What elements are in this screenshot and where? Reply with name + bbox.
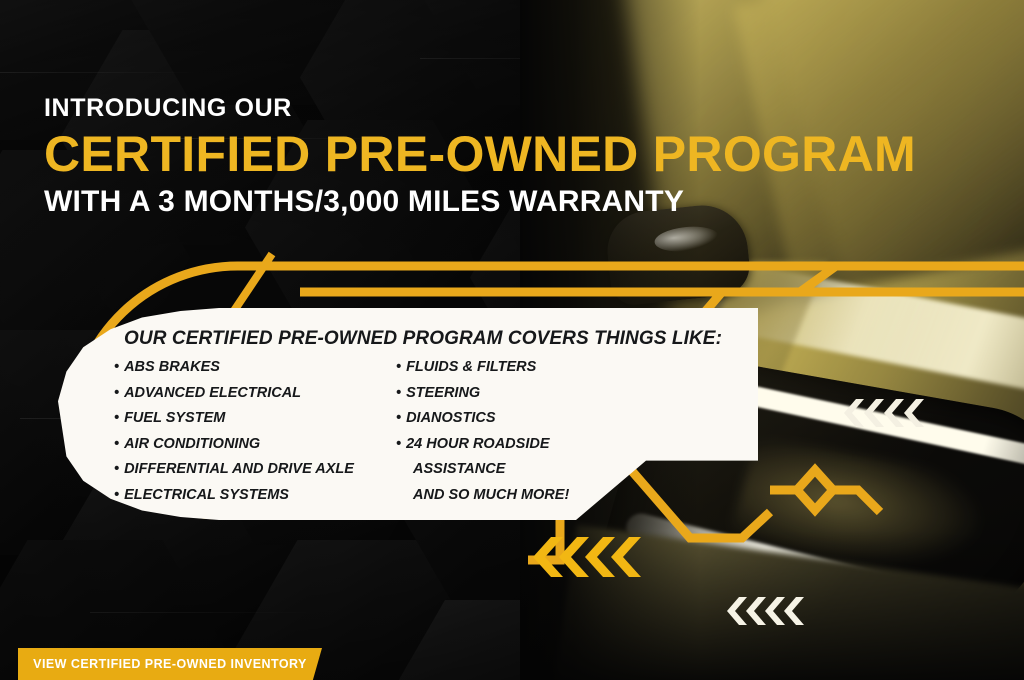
page-title: CERTIFIED PRE-OWNED PROGRAM [44, 127, 944, 181]
list-item: •STEERING [396, 386, 696, 401]
kicker-text: INTRODUCING OUR [44, 96, 944, 121]
list-item-label: ABS BRAKES [124, 359, 220, 375]
list-item: •FUEL SYSTEM [114, 411, 396, 426]
list-item-label: FUEL SYSTEM [124, 410, 225, 426]
chevron-left-icon [722, 596, 812, 626]
panel-heading: OUR CERTIFIED PRE-OWNED PROGRAM COVERS T… [124, 328, 722, 350]
warranty-subtitle: WITH A 3 MONTHS/3,000 MILES WARRANTY [44, 187, 944, 217]
certified-preowned-banner: INTRODUCING OUR CERTIFIED PRE-OWNED PROG… [0, 0, 1024, 680]
bullet-icon: • [114, 386, 119, 401]
bullet-icon: • [114, 437, 119, 452]
view-inventory-label: VIEW CERTIFIED PRE-OWNED INVENTORY [33, 657, 307, 671]
bullet-icon: • [396, 386, 401, 401]
list-item: •ELECTRICAL SYSTEMS [114, 488, 396, 503]
bullet-icon: • [396, 437, 401, 452]
view-inventory-button[interactable]: VIEW CERTIFIED PRE-OWNED INVENTORY [18, 648, 322, 680]
list-item-label: DIANOSTICS [406, 410, 495, 426]
list-item-label: FLUIDS & FILTERS [406, 359, 536, 375]
list-item-label: ELECTRICAL SYSTEMS [124, 487, 289, 503]
list-item: •AIR CONDITIONING [114, 437, 396, 452]
bullet-icon: • [114, 488, 119, 503]
bullet-icon: • [114, 462, 119, 477]
bullet-icon: • [114, 411, 119, 426]
chevrons-right-lower [722, 596, 812, 626]
headline-block: INTRODUCING OUR CERTIFIED PRE-OWNED PROG… [44, 96, 944, 217]
bullet-icon: • [396, 411, 401, 426]
bullet-icon: • [114, 360, 119, 375]
list-item-label: AIR CONDITIONING [124, 436, 260, 452]
chevrons-right-upper [838, 398, 934, 428]
chevron-left-icon [838, 398, 934, 428]
list-item: •FLUIDS & FILTERS [396, 360, 696, 375]
list-item: •DIFFERENTIAL AND DRIVE AXLE [114, 462, 396, 477]
coverage-column-left: •ABS BRAKES •ADVANCED ELECTRICAL •FUEL S… [114, 360, 396, 513]
list-item-label: DIFFERENTIAL AND DRIVE AXLE [124, 461, 354, 477]
list-item: •ABS BRAKES [114, 360, 396, 375]
list-item: •DIANOSTICS [396, 411, 696, 426]
list-item-label: STEERING [406, 385, 480, 401]
list-item-label: ADVANCED ELECTRICAL [124, 385, 301, 401]
bullet-icon: • [396, 360, 401, 375]
list-item: •ADVANCED ELECTRICAL [114, 386, 396, 401]
chevron-left-icon [527, 535, 647, 579]
chevrons-center-lower [527, 535, 647, 579]
list-item-label: 24 HOUR ROADSIDE [406, 436, 549, 452]
list-item: •24 HOUR ROADSIDE [396, 437, 696, 452]
